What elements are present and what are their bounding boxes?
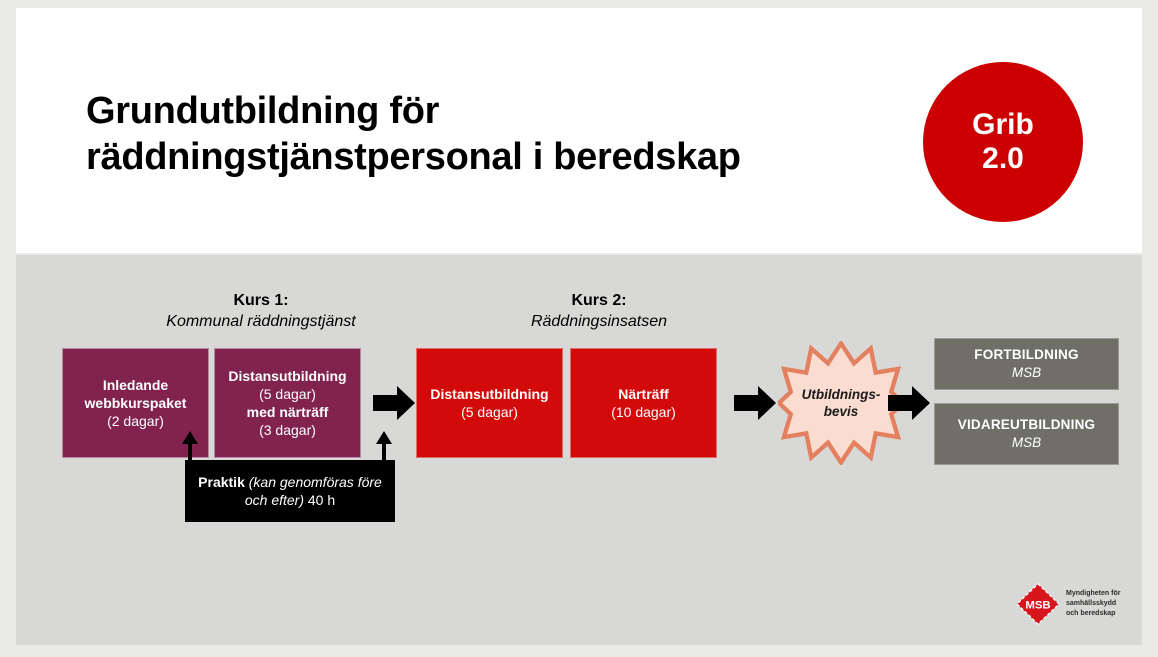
- page-title-line-1: Grundutbildning för: [86, 90, 439, 132]
- msb-logo: MSB Myndigheten för samhällsskydd och be…: [1016, 583, 1146, 625]
- course-heading-kurs1-subtitle: Kommunal räddningstjänst: [156, 311, 366, 332]
- msb-tagline: Myndigheten för samhällsskydd och bereds…: [1066, 589, 1120, 619]
- box-line: (2 dagar): [107, 412, 164, 430]
- course-heading-kurs2-title: Kurs 2:: [494, 290, 704, 311]
- flow-box-distansutbildning-med-nartraff: Distansutbildning (5 dagar) med närträff…: [214, 348, 361, 458]
- box-line: MSB: [1012, 364, 1041, 382]
- box-line: Distansutbildning: [430, 385, 548, 403]
- box-line: (5 dagar): [461, 403, 518, 421]
- praktik-bold-text: Praktik: [198, 474, 245, 490]
- slide-canvas: Grundutbildning för räddningstjänstperso…: [0, 0, 1158, 657]
- course-heading-kurs1-title: Kurs 1:: [156, 290, 366, 311]
- starburst-icon: [778, 341, 904, 465]
- msb-tagline-line-2: samhällsskydd: [1066, 599, 1120, 609]
- page-title: Grundutbildning för räddningstjänstperso…: [86, 88, 886, 181]
- box-line: Närträff: [618, 385, 669, 403]
- msb-diamond-icon: MSB: [1016, 583, 1060, 625]
- msb-tagline-line-3: och beredskap: [1066, 609, 1120, 619]
- diagram-panel: Kurs 1: Kommunal räddningstjänst Kurs 2:…: [16, 255, 1142, 645]
- box-line: (3 dagar): [259, 421, 316, 439]
- flow-box-fortbildning: FORTBILDNING MSB: [934, 338, 1119, 390]
- flow-box-praktik: Praktik (kan genomföras före och efter) …: [185, 460, 395, 522]
- box-line: Inledande: [103, 376, 168, 394]
- badge-label: Grib: [972, 108, 1034, 143]
- flow-shape-utbildningsbevis: Utbildnings- bevis: [778, 341, 904, 465]
- box-line: med närträff: [247, 403, 329, 421]
- flow-box-nartraff: Närträff (10 dagar): [570, 348, 717, 458]
- box-line: Distansutbildning: [228, 367, 346, 385]
- svg-text:MSB: MSB: [1025, 599, 1050, 611]
- flow-arrow-right-icon-3: [888, 386, 930, 420]
- box-line: (5 dagar): [259, 385, 316, 403]
- course-heading-kurs1: Kurs 1: Kommunal räddningstjänst: [156, 290, 366, 332]
- header-panel: Grundutbildning för räddningstjänstperso…: [16, 8, 1142, 253]
- badge-version: 2.0: [982, 142, 1024, 177]
- box-line: FORTBILDNING: [974, 346, 1078, 364]
- flow-box-vidareutbildning: VIDAREUTBILDNING MSB: [934, 403, 1119, 465]
- box-line: (10 dagar): [611, 403, 676, 421]
- praktik-plain-text: 40 h: [308, 492, 335, 508]
- course-heading-kurs2: Kurs 2: Räddningsinsatsen: [494, 290, 704, 332]
- box-line: VIDAREUTBILDNING: [958, 416, 1095, 434]
- course-heading-kurs2-subtitle: Räddningsinsatsen: [494, 311, 704, 332]
- grib-version-badge: Grib 2.0: [923, 62, 1083, 222]
- flow-box-distansutbildning: Distansutbildning (5 dagar): [416, 348, 563, 458]
- flow-arrow-right-icon-1: [373, 386, 415, 420]
- box-line: webbkurspaket: [85, 394, 187, 412]
- msb-tagline-line-1: Myndigheten för: [1066, 589, 1120, 599]
- flow-arrow-right-icon-2: [734, 386, 776, 420]
- page-title-line-2: räddningstjänstpersonal i beredskap: [86, 136, 741, 178]
- box-line: MSB: [1012, 434, 1041, 452]
